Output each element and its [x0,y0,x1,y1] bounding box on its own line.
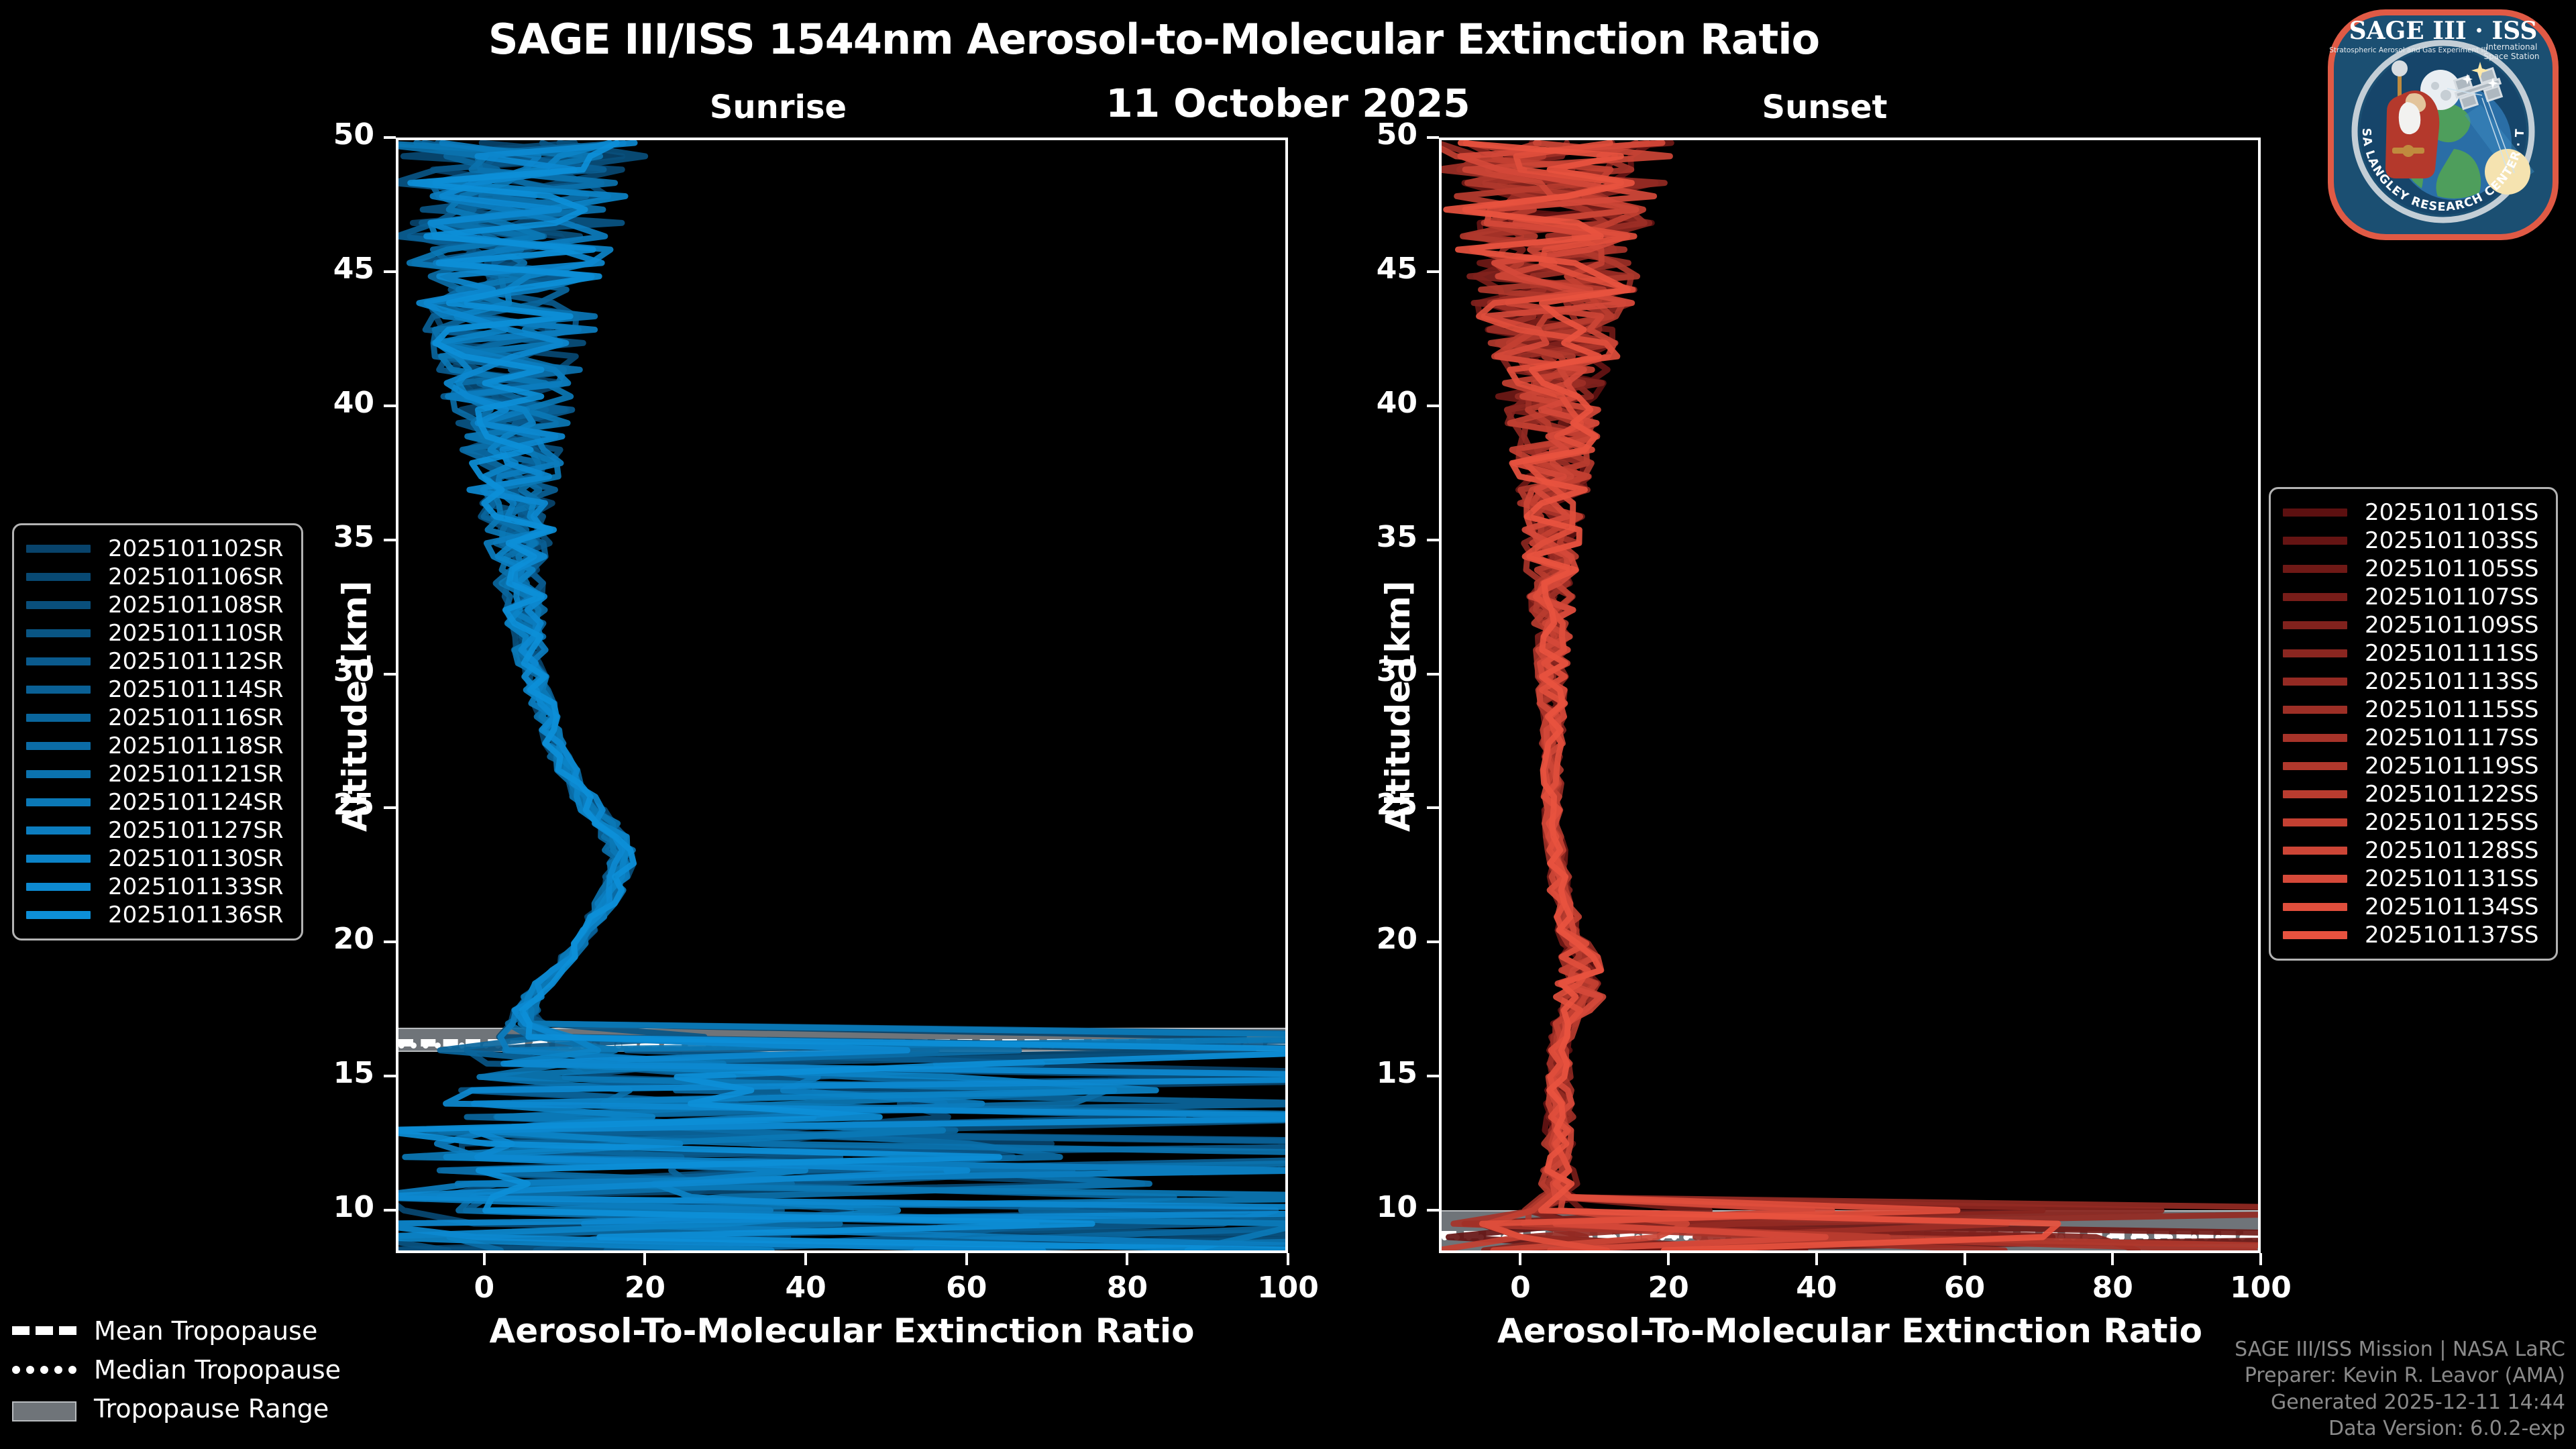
y-tick-label: 50 [288,117,374,152]
legend-event-label: 2025101115SS [2365,696,2538,723]
sunset-event-legend-item[interactable]: 2025101107SS [2283,583,2538,611]
y-tick-mark [1427,539,1439,541]
x-tick-mark [483,1253,486,1265]
legend-event-label: 2025101131SS [2365,865,2538,892]
sunrise-profile-curves [398,140,1285,1250]
x-tick-mark [1964,1253,1966,1265]
credits-line-generated: Generated 2025-12-11 14:44 [2235,1389,2565,1416]
x-tick-label: 0 [424,1271,545,1305]
sunset-panel-title: Sunset [1637,89,2012,126]
legend-color-swatch [26,573,91,581]
sunrise-event-legend-item[interactable]: 2025101102SR [26,535,284,563]
legend-color-swatch [26,657,91,665]
legend-event-label: 2025101114SR [108,676,284,703]
x-tick-label: 40 [745,1271,866,1305]
sunset-event-legend-item[interactable]: 2025101119SS [2283,752,2538,780]
sunrise-event-legend-item[interactable]: 2025101130SR [26,845,284,873]
legend-color-swatch [26,855,91,863]
legend-color-swatch [2283,706,2347,714]
legend-event-label: 2025101136SR [108,902,284,928]
legend-event-label: 2025101103SS [2365,527,2538,554]
x-axis-title-right: Aerosol-To-Molecular Extinction Ratio [1439,1311,2261,1350]
sunrise-event-legend-item[interactable]: 2025101136SR [26,901,284,929]
y-tick-label: 40 [288,386,374,420]
legend-color-swatch [26,601,91,609]
x-tick-mark [1287,1253,1289,1265]
x-tick-label: 80 [2052,1271,2173,1305]
legend-item-mean-tropopause: Mean Tropopause [12,1311,341,1350]
page-title: SAGE III/ISS 1544nm Aerosol-to-Molecular… [0,15,2308,64]
legend-color-swatch [2283,649,2347,657]
legend-item-tropopause-range: Tropopause Range [12,1389,341,1428]
dotted-line-icon [12,1362,76,1377]
sunset-event-legend-item[interactable]: 2025101101SS [2283,498,2538,527]
x-tick-mark [2111,1253,2114,1265]
legend-event-label: 2025101107SS [2365,584,2538,610]
legend-event-label: 2025101108SR [108,592,284,619]
x-tick-mark [1667,1253,1670,1265]
sunset-event-legend-item[interactable]: 2025101115SS [2283,696,2538,724]
legend-event-label: 2025101128SS [2365,837,2538,864]
y-axis-title-right: Altitude [km] [1379,580,1417,832]
y-tick-mark [384,1209,396,1212]
legend-event-label: 2025101102SR [108,535,284,562]
legend-event-label: 2025101130SR [108,845,284,872]
x-tick-mark [804,1253,807,1265]
sunrise-event-legend-item[interactable]: 2025101108SR [26,591,284,619]
logo-subtitle-right-2: Space Station [2483,52,2539,61]
y-tick-label: 45 [288,252,374,286]
legend-color-swatch [2283,734,2347,742]
y-tick-mark [384,806,396,809]
x-tick-label: 100 [1228,1271,1348,1305]
band-swatch-icon [12,1401,76,1416]
sunrise-panel-title: Sunrise [590,89,966,126]
sunrise-event-legend-item[interactable]: 2025101124SR [26,788,284,816]
y-tick-mark [1427,136,1439,139]
sunset-event-legend-item[interactable]: 2025101125SS [2283,808,2538,837]
y-tick-mark [384,673,396,676]
tropopause-legend: Mean Tropopause Median Tropopause Tropop… [12,1311,341,1428]
sunrise-event-legend[interactable]: 2025101102SR2025101106SR2025101108SR2025… [12,523,303,941]
sunset-event-legend[interactable]: 2025101101SS2025101103SS2025101105SS2025… [2269,487,2558,961]
sunrise-event-legend-item[interactable]: 2025101116SR [26,704,284,732]
x-tick-mark [1126,1253,1128,1265]
y-tick-label: 40 [1332,386,1417,420]
legend-event-label: 2025101127SR [108,817,284,844]
sunrise-event-legend-item[interactable]: 2025101114SR [26,676,284,704]
legend-color-swatch [2283,790,2347,798]
legend-color-swatch [2283,621,2347,629]
sunset-event-legend-item[interactable]: 2025101128SS [2283,837,2538,865]
y-tick-mark [384,1075,396,1077]
legend-event-label: 2025101110SR [108,620,284,647]
x-tick-label: 60 [906,1271,1027,1305]
x-tick-mark [643,1253,646,1265]
legend-event-label: 2025101124SR [108,789,284,816]
legend-event-label: 2025101134SS [2365,894,2538,920]
y-tick-label: 50 [1332,117,1417,152]
legend-color-swatch [2283,847,2347,855]
legend-color-swatch [26,629,91,637]
logo-title: SAGE III · ISS [2349,17,2538,45]
y-tick-mark [1427,1209,1439,1212]
sunrise-event-legend-item[interactable]: 2025101121SR [26,760,284,788]
sunset-event-legend-item[interactable]: 2025101122SS [2283,780,2538,808]
legend-event-label: 2025101137SS [2365,922,2538,949]
y-tick-label: 35 [1332,520,1417,554]
x-tick-mark [1519,1253,1521,1265]
legend-event-label: 2025101119SS [2365,753,2538,780]
sunset-plot-area [1439,138,2261,1253]
legend-color-swatch [26,686,91,694]
sunrise-event-legend-item[interactable]: 2025101127SR [26,816,284,845]
legend-event-label: 2025101122SS [2365,781,2538,808]
y-tick-mark [1427,405,1439,407]
y-tick-label: 20 [1332,922,1417,956]
legend-event-label: 2025101133SR [108,873,284,900]
x-tick-label: 40 [1756,1271,1877,1305]
sage-iii-iss-mission-patch-logo: SAGE III · ISS Stratospheric Aerosol and… [2322,4,2564,246]
legend-event-label: 2025101106SR [108,563,284,590]
legend-color-swatch [2283,903,2347,911]
sunset-event-legend-item[interactable]: 2025101131SS [2283,865,2538,893]
legend-color-swatch [26,883,91,891]
y-tick-mark [1427,270,1439,273]
legend-event-label: 2025101109SS [2365,612,2538,639]
legend-color-swatch [26,770,91,778]
y-tick-mark [384,405,396,407]
sunrise-event-legend-item[interactable]: 2025101110SR [26,619,284,647]
credits-line-mission: SAGE III/ISS Mission | NASA LaRC [2235,1336,2565,1363]
sunrise-event-legend-item[interactable]: 2025101133SR [26,873,284,901]
y-tick-label: 10 [288,1190,374,1224]
legend-color-swatch [26,742,91,750]
legend-color-swatch [26,545,91,553]
credits-block: SAGE III/ISS Mission | NASA LaRC Prepare… [2235,1336,2565,1442]
y-tick-mark [384,539,396,541]
legend-color-swatch [26,714,91,722]
legend-label-mean-tropopause: Mean Tropopause [94,1316,317,1346]
credits-line-preparer: Preparer: Kevin R. Leavor (AMA) [2235,1362,2565,1389]
y-tick-mark [384,136,396,139]
x-tick-label: 100 [2200,1271,2321,1305]
y-tick-mark [1427,673,1439,676]
legend-event-label: 2025101117SS [2365,724,2538,751]
legend-event-label: 2025101105SS [2365,555,2538,582]
x-tick-label: 80 [1067,1271,1187,1305]
x-tick-label: 20 [584,1271,705,1305]
x-tick-label: 60 [1904,1271,2025,1305]
y-tick-mark [384,270,396,273]
sunset-event-legend-item[interactable]: 2025101103SS [2283,527,2538,555]
logo-subtitle-left: Stratospheric Aerosol and Gas Experiment… [2329,46,2487,54]
legend-color-swatch [26,911,91,919]
y-tick-mark [384,941,396,943]
legend-color-swatch [2283,537,2347,545]
x-tick-label: 20 [1608,1271,1729,1305]
sunset-event-legend-item[interactable]: 2025101111SS [2283,639,2538,667]
legend-color-swatch [2283,818,2347,826]
legend-color-swatch [26,826,91,835]
legend-event-label: 2025101101SS [2365,499,2538,526]
legend-label-tropopause-range: Tropopause Range [94,1394,329,1424]
y-tick-label: 45 [1332,252,1417,286]
legend-event-label: 2025101116SR [108,704,284,731]
legend-color-swatch [2283,762,2347,770]
legend-color-swatch [2283,593,2347,601]
y-axis-title-left: Altitude [km] [335,580,374,832]
legend-event-label: 2025101125SS [2365,809,2538,836]
legend-color-swatch [2283,678,2347,686]
legend-event-label: 2025101118SR [108,733,284,759]
legend-event-label: 2025101121SR [108,761,284,788]
sunset-event-legend-item[interactable]: 2025101105SS [2283,555,2538,583]
y-tick-mark [1427,941,1439,943]
y-tick-mark [1427,1075,1439,1077]
sunrise-event-legend-item[interactable]: 2025101112SR [26,647,284,676]
sunset-event-legend-item[interactable]: 2025101109SS [2283,611,2538,639]
logo-subtitle-right-1: International [2486,42,2538,52]
x-tick-label: 0 [1460,1271,1580,1305]
sunrise-plot-area [396,138,1288,1253]
legend-item-median-tropopause: Median Tropopause [12,1350,341,1389]
x-tick-mark [2259,1253,2262,1265]
legend-event-label: 2025101113SS [2365,668,2538,695]
sunrise-event-legend-item[interactable]: 2025101106SR [26,563,284,591]
sunset-event-legend-item[interactable]: 2025101134SS [2283,893,2538,921]
y-tick-label: 15 [1332,1056,1417,1090]
legend-color-swatch [2283,875,2347,883]
legend-color-swatch [2283,931,2347,939]
x-axis-title-left: Aerosol-To-Molecular Extinction Ratio [396,1311,1288,1350]
y-tick-label: 10 [1332,1190,1417,1224]
legend-event-label: 2025101112SR [108,648,284,675]
sunset-event-legend-item[interactable]: 2025101117SS [2283,724,2538,752]
sunset-event-legend-item[interactable]: 2025101137SS [2283,921,2538,949]
legend-color-swatch [26,798,91,806]
y-tick-mark [1427,806,1439,809]
sunrise-event-legend-item[interactable]: 2025101118SR [26,732,284,760]
legend-color-swatch [2283,565,2347,573]
x-tick-mark [1815,1253,1818,1265]
date-title: 11 October 2025 [1073,80,1503,126]
dashed-line-icon [12,1324,76,1338]
legend-event-label: 2025101111SS [2365,640,2538,667]
sunset-profile-curves [1442,140,2258,1250]
credits-line-version: Data Version: 6.0.2-exp [2235,1415,2565,1442]
legend-label-median-tropopause: Median Tropopause [94,1355,341,1385]
legend-color-swatch [2283,508,2347,517]
sunset-event-legend-item[interactable]: 2025101113SS [2283,667,2538,696]
y-tick-label: 15 [288,1056,374,1090]
x-tick-mark [965,1253,968,1265]
